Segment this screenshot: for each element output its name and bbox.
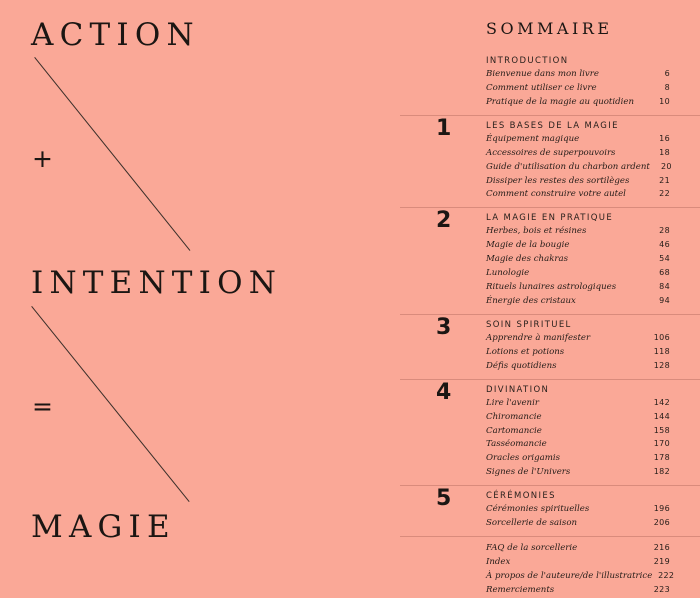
toc-entry-page-number: 223 bbox=[648, 584, 670, 597]
toc-entry[interactable]: Lotions et potions118 bbox=[486, 346, 670, 360]
toc-entry[interactable]: FAQ de la sorcellerie216 bbox=[486, 542, 670, 556]
toc-entry[interactable]: Sorcellerie de saison206 bbox=[486, 517, 670, 531]
toc-entry-page-number: 21 bbox=[648, 175, 670, 188]
toc-entry-list: FAQ de la sorcellerie216Index219À propos… bbox=[486, 542, 670, 598]
toc-entry-page-number: 8 bbox=[648, 82, 670, 95]
toc-entry-list: Herbes, bois et résines28Magie de la bou… bbox=[486, 225, 670, 309]
section-heading: LES BASES DE LA MAGIE bbox=[486, 121, 670, 131]
toc-entry-title: Guide d'utilisation du charbon ardent bbox=[486, 161, 650, 175]
toc-entry-title: Accessoires de superpouvoirs bbox=[486, 147, 615, 161]
toc-entry-title: Lire l'avenir bbox=[486, 397, 539, 411]
section-number: 2 bbox=[436, 210, 451, 232]
toc-entry-title: Comment construire votre autel bbox=[486, 188, 626, 202]
section-number: 5 bbox=[436, 488, 451, 510]
toc-entry-title: Index bbox=[486, 556, 510, 570]
book-spread: ACTION + INTENTION = MAGIE SOMMAIRE INTR… bbox=[0, 0, 700, 566]
toc-section: FAQ de la sorcellerie216Index219À propos… bbox=[400, 536, 700, 598]
toc-entry-page-number: 144 bbox=[648, 411, 670, 424]
toc-entry-page-number: 16 bbox=[648, 133, 670, 146]
toc-entry[interactable]: Magie de la bougie46 bbox=[486, 239, 670, 253]
section-heading: SOIN SPIRITUEL bbox=[486, 320, 670, 330]
toc-entry-title: Énergie des cristaux bbox=[486, 295, 576, 309]
toc-entry[interactable]: Rituels lunaires astrologiques84 bbox=[486, 281, 670, 295]
section-heading: DIVINATION bbox=[486, 385, 670, 395]
section-number: 4 bbox=[436, 382, 451, 404]
equation-word-magie: MAGIE bbox=[31, 512, 176, 543]
section-number: 3 bbox=[436, 317, 451, 339]
toc-entry-title: Chiromancie bbox=[486, 411, 542, 425]
toc-entry-page-number: 6 bbox=[648, 68, 670, 81]
toc-entry[interactable]: Magie des chakras54 bbox=[486, 253, 670, 267]
toc-entry-title: Pratique de la magie au quotidien bbox=[486, 96, 634, 110]
toc-entry-page-number: 222 bbox=[652, 570, 674, 583]
diagonal-line-bottom bbox=[31, 306, 189, 502]
toc-entry-title: Bienvenue dans mon livre bbox=[486, 68, 599, 82]
toc-entry-page-number: 84 bbox=[648, 281, 670, 294]
toc-entry-page-number: 18 bbox=[648, 147, 670, 160]
toc-entry-title: Comment utiliser ce livre bbox=[486, 82, 597, 96]
toc-entry-page-number: 196 bbox=[648, 503, 670, 516]
equals-sign-icon: = bbox=[32, 394, 53, 419]
toc-entry-page-number: 28 bbox=[648, 225, 670, 238]
toc-entry[interactable]: Accessoires de superpouvoirs18 bbox=[486, 147, 670, 161]
toc-entry-page-number: 10 bbox=[648, 96, 670, 109]
toc-entry[interactable]: À propos de l'auteure/de l'illustratrice… bbox=[486, 570, 670, 584]
toc-entry-title: Magie de la bougie bbox=[486, 239, 569, 253]
toc-entry[interactable]: Apprendre à manifester106 bbox=[486, 332, 670, 346]
toc-section: 1LES BASES DE LA MAGIEÉquipement magique… bbox=[400, 115, 700, 203]
toc-entry-title: Oracles origamis bbox=[486, 452, 560, 466]
toc-entry-title: FAQ de la sorcellerie bbox=[486, 542, 577, 556]
toc-entry[interactable]: Remerciements223 bbox=[486, 584, 670, 598]
toc-entry-list: Lire l'avenir142Chiromancie144Cartomanci… bbox=[486, 397, 670, 481]
right-page: SOMMAIRE INTRODUCTIONBienvenue dans mon … bbox=[400, 0, 700, 566]
toc-entry-list: Apprendre à manifester106Lotions et poti… bbox=[486, 332, 670, 374]
toc-entry[interactable]: Équipement magique16 bbox=[486, 133, 670, 147]
toc-entry-title: Cérémonies spirituelles bbox=[486, 503, 589, 517]
equation-word-action: ACTION bbox=[31, 20, 200, 51]
toc-entry[interactable]: Bienvenue dans mon livre6 bbox=[486, 68, 670, 82]
toc-entry-page-number: 94 bbox=[648, 295, 670, 308]
toc-section: 4DIVINATIONLire l'avenir142Chiromancie14… bbox=[400, 379, 700, 481]
diagonal-line-top bbox=[34, 57, 190, 251]
table-of-contents: INTRODUCTIONBienvenue dans mon livre6Com… bbox=[400, 56, 700, 598]
toc-entry-page-number: 142 bbox=[648, 397, 670, 410]
toc-entry[interactable]: Tasséomancie170 bbox=[486, 438, 670, 452]
toc-section: INTRODUCTIONBienvenue dans mon livre6Com… bbox=[400, 56, 700, 110]
toc-entry[interactable]: Oracles origamis178 bbox=[486, 452, 670, 466]
toc-entry[interactable]: Lire l'avenir142 bbox=[486, 397, 670, 411]
toc-entry-title: Lunologie bbox=[486, 267, 529, 281]
toc-entry[interactable]: Herbes, bois et résines28 bbox=[486, 225, 670, 239]
toc-entry-title: Cartomancie bbox=[486, 425, 542, 439]
toc-entry[interactable]: Cérémonies spirituelles196 bbox=[486, 503, 670, 517]
toc-entry-page-number: 106 bbox=[648, 332, 670, 345]
toc-entry-list: Cérémonies spirituelles196Sorcellerie de… bbox=[486, 503, 670, 531]
toc-entry-title: Tasséomancie bbox=[486, 438, 547, 452]
toc-entry-title: À propos de l'auteure/de l'illustratrice bbox=[486, 570, 652, 584]
toc-entry-title: Magie des chakras bbox=[486, 253, 568, 267]
toc-entry-page-number: 68 bbox=[648, 267, 670, 280]
toc-section: 3SOIN SPIRITUELApprendre à manifester106… bbox=[400, 314, 700, 374]
toc-entry-page-number: 46 bbox=[648, 239, 670, 252]
left-page: ACTION + INTENTION = MAGIE bbox=[0, 0, 400, 566]
toc-entry-title: Rituels lunaires astrologiques bbox=[486, 281, 616, 295]
toc-entry-page-number: 182 bbox=[648, 466, 670, 479]
toc-entry-page-number: 178 bbox=[648, 452, 670, 465]
section-number: 1 bbox=[436, 118, 451, 140]
toc-entry-title: Apprendre à manifester bbox=[486, 332, 590, 346]
toc-entry[interactable]: Comment construire votre autel22 bbox=[486, 188, 670, 202]
section-heading: CÉRÉMONIES bbox=[486, 491, 670, 501]
section-heading: INTRODUCTION bbox=[486, 56, 670, 66]
toc-entry-page-number: 158 bbox=[648, 425, 670, 438]
toc-entry-page-number: 118 bbox=[648, 346, 670, 359]
toc-entry[interactable]: Énergie des cristaux94 bbox=[486, 295, 670, 309]
toc-entry-page-number: 219 bbox=[648, 556, 670, 569]
toc-entry[interactable]: Défis quotidiens128 bbox=[486, 360, 670, 374]
toc-entry[interactable]: Chiromancie144 bbox=[486, 411, 670, 425]
toc-entry[interactable]: Signes de l'Univers182 bbox=[486, 466, 670, 480]
toc-entry-page-number: 22 bbox=[648, 188, 670, 201]
plus-sign-icon: + bbox=[32, 146, 53, 171]
toc-entry[interactable]: Cartomancie158 bbox=[486, 425, 670, 439]
toc-entry-title: Dissiper les restes des sortilèges bbox=[486, 175, 629, 189]
toc-entry-title: Herbes, bois et résines bbox=[486, 225, 586, 239]
toc-entry[interactable]: Guide d'utilisation du charbon ardent20 bbox=[486, 161, 670, 175]
toc-entry-list: Bienvenue dans mon livre6Comment utilise… bbox=[486, 68, 670, 110]
toc-entry-page-number: 206 bbox=[648, 517, 670, 530]
toc-entry-list: Équipement magique16Accessoires de super… bbox=[486, 133, 670, 203]
section-heading: LA MAGIE EN PRATIQUE bbox=[486, 213, 670, 223]
toc-entry-title: Remerciements bbox=[486, 584, 554, 598]
toc-entry-page-number: 128 bbox=[648, 360, 670, 373]
toc-entry[interactable]: Comment utiliser ce livre8 bbox=[486, 82, 670, 96]
toc-entry-title: Équipement magique bbox=[486, 133, 579, 147]
toc-entry-page-number: 20 bbox=[650, 161, 672, 174]
toc-entry-title: Signes de l'Univers bbox=[486, 466, 570, 480]
toc-entry-title: Lotions et potions bbox=[486, 346, 564, 360]
toc-entry[interactable]: Index219 bbox=[486, 556, 670, 570]
page-title: SOMMAIRE bbox=[486, 19, 613, 38]
toc-entry-page-number: 170 bbox=[648, 438, 670, 451]
toc-entry[interactable]: Pratique de la magie au quotidien10 bbox=[486, 96, 670, 110]
toc-entry-page-number: 54 bbox=[648, 253, 670, 266]
equation-word-intention: INTENTION bbox=[31, 268, 282, 299]
toc-section: 2LA MAGIE EN PRATIQUEHerbes, bois et rés… bbox=[400, 207, 700, 309]
toc-entry-page-number: 216 bbox=[648, 542, 670, 555]
toc-entry-title: Sorcellerie de saison bbox=[486, 517, 577, 531]
toc-section: 5CÉRÉMONIESCérémonies spirituelles196Sor… bbox=[400, 485, 700, 531]
toc-entry[interactable]: Dissiper les restes des sortilèges21 bbox=[486, 175, 670, 189]
toc-entry-title: Défis quotidiens bbox=[486, 360, 557, 374]
toc-entry[interactable]: Lunologie68 bbox=[486, 267, 670, 281]
